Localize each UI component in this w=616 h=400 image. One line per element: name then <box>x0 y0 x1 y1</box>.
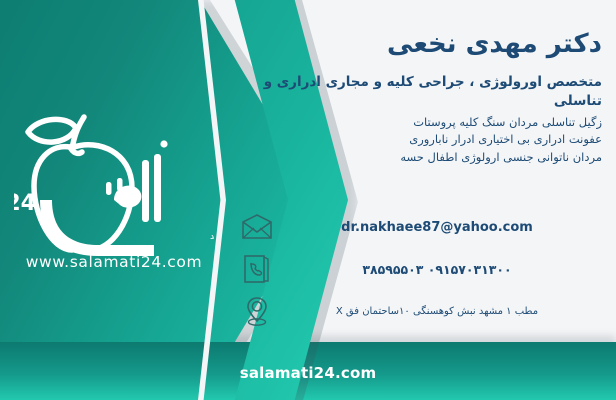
brand-logo: 24 براحتی یک لبخند www.salamati24.com <box>14 104 214 279</box>
doctor-name: دکتر مهدی نخعی <box>242 28 602 61</box>
contact-block: dr.nakhaee87@yahoo.com ۰۹۱۵۷۰۳۱۳۰۰ ۳۸۵۹۵… <box>240 208 606 334</box>
contact-row-phone[interactable]: ۰۹۱۵۷۰۳۱۳۰۰ ۳۸۵۹۵۵۰۳ <box>240 250 606 288</box>
logo-website: www.salamati24.com <box>26 253 202 271</box>
business-card: 24 براحتی یک لبخند www.salamati24.com دک… <box>0 0 616 400</box>
list-item: عفونت ادراری بی اختیاری ادرار ناباروری <box>242 131 602 148</box>
footer-website: salamati24.com <box>0 364 616 382</box>
list-item: مردان ناتوانی جنسی ارولوژی اطفال حسه <box>242 149 602 166</box>
email-value: dr.nakhaee87@yahoo.com <box>274 220 606 235</box>
services-list: زگیل تناسلی مردان سنگ کلیه پروستات عفونت… <box>242 114 602 166</box>
doctor-info-block: دکتر مهدی نخعی متخصص اورولوژی ، جراحی کل… <box>242 28 602 166</box>
location-pin-icon <box>240 294 274 328</box>
list-item: زگیل تناسلی مردان سنگ کلیه پروستات <box>242 114 602 131</box>
logo-tagline: براحتی یک لبخند <box>210 232 214 242</box>
phone-value: ۰۹۱۵۷۰۳۱۳۰۰ ۳۸۵۹۵۵۰۳ <box>274 262 606 277</box>
phone-book-icon <box>240 252 274 286</box>
doctor-specialty: متخصص اورولوژی ، جراحی کلیه و مجاری ادرا… <box>242 73 602 112</box>
contact-row-address[interactable]: مطب ۱ مشهد نبش کوهسنگی ۱۰ساحتمان فق X <box>240 292 606 330</box>
logo-badge-number: 24 <box>14 191 36 216</box>
contact-row-email[interactable]: dr.nakhaee87@yahoo.com <box>240 208 606 246</box>
address-value: مطب ۱ مشهد نبش کوهسنگی ۱۰ساحتمان فق X <box>274 306 606 317</box>
envelope-icon <box>240 210 274 244</box>
